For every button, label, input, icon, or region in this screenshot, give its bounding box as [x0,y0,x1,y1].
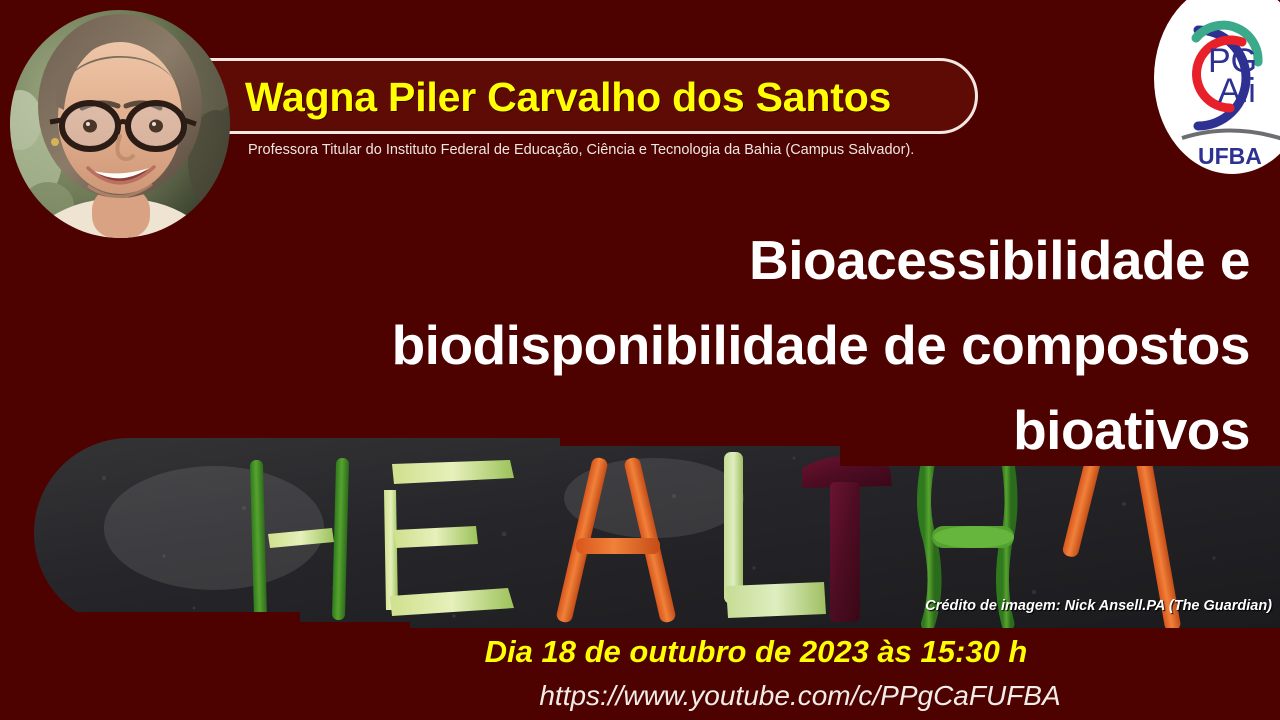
logo-text-ali: Ali [1218,72,1256,110]
title-line-2: biodisponibilidade de compostos [90,303,1250,388]
title-line-1: Bioacessibilidade e [90,218,1250,303]
image-credit: Crédito de imagem: Nick Ansell.PA (The G… [640,598,1272,614]
event-url[interactable]: https://www.youtube.com/c/PPgCaFUFBA [380,680,1220,712]
presentation-title: Bioacessibilidade e biodisponibilidade d… [90,218,1250,473]
pgali-logo-icon: PG Ali UFBA [1146,0,1280,185]
speaker-affiliation: Professora Titular do Instituto Federal … [248,140,964,161]
speaker-name: Wagna Piler Carvalho dos Santos [245,66,965,128]
logo-text-ufba: UFBA [1198,143,1262,169]
speaker-avatar [10,10,230,238]
pgali-ufba-logo: PG Ali UFBA [1146,0,1280,185]
webinar-poster: Wagna Piler Carvalho dos Santos Professo… [0,0,1280,720]
event-date: Dia 18 de outubro de 2023 às 15:30 h [330,634,1182,670]
title-line-3: bioativos [90,388,1250,473]
speaker-portrait-icon [10,10,230,238]
